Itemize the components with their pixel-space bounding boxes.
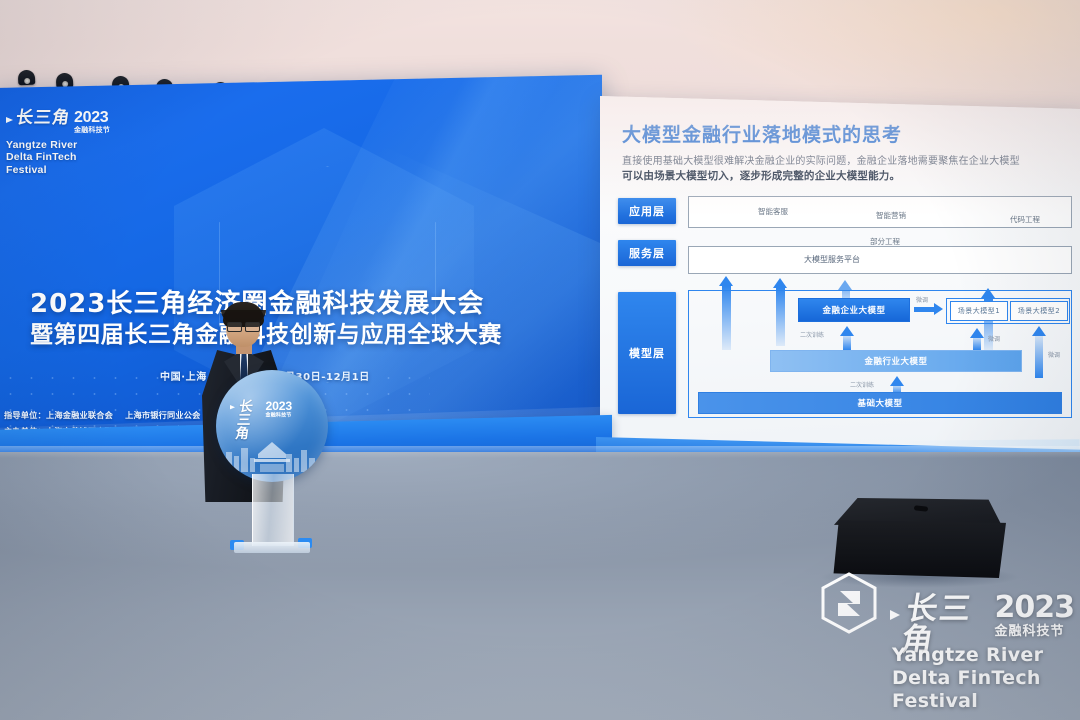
podium-logo-cn: 长三角 — [234, 400, 265, 441]
festival-logo-cn-sub: 金融科技节 — [74, 127, 110, 135]
watermark-en-3: Festival — [892, 690, 1043, 713]
scene-model-2: 场景大模型2 — [1010, 301, 1068, 321]
model-base: 基础大模型 — [698, 392, 1062, 414]
event-title-line2: 暨第四届长三角金融科技创新与应用全球大赛 — [30, 321, 560, 351]
podium-emblem-disc: 长三角 2023 金融科技节 — [216, 370, 328, 482]
arrow-up-stem — [973, 336, 981, 350]
presentation-screen: 大模型金融行业落地模式的思考 直接使用基础大模型很难解决金融企业的实际问题，金融… — [600, 96, 1080, 481]
podium-logo-sub: 金融科技节 — [266, 413, 292, 419]
hexagon-s-logo-icon — [820, 572, 878, 634]
layer-tag-model: 模型层 — [618, 292, 676, 414]
app-item-smart-marketing: 智能营销 — [876, 210, 906, 221]
service-layer-panel — [688, 246, 1072, 274]
arrow-right-stem — [914, 307, 934, 312]
festival-logo-en-1: Yangtze River — [6, 139, 136, 152]
arrow-right-icon — [934, 303, 943, 315]
podium-column — [252, 474, 294, 546]
scene-model-1: 场景大模型1 — [950, 301, 1008, 321]
festival-logo-en-2: Delta FinTech — [6, 151, 136, 164]
conference-stage-photo: 长三角 2023 金融科技节 Yangtze River Delta FinTe… — [0, 0, 1080, 720]
model-industry: 金融行业大模型 — [770, 350, 1022, 372]
layer-tag-application: 应用层 — [618, 198, 676, 224]
arrow-label-finetune: 微调 — [916, 295, 928, 304]
event-title-line1: 2023长三角经济圈金融科技发展大会 — [30, 288, 560, 321]
arrow-label-finetune: 微调 — [988, 334, 1000, 343]
arrow-right-icon — [890, 610, 900, 620]
podium-logo-year: 2023 — [266, 400, 292, 412]
arrow-up-stem — [843, 334, 851, 350]
model-enterprise: 金融企业大模型 — [798, 298, 910, 322]
watermark-en-2: Delta FinTech — [892, 667, 1043, 690]
podium-festival-logo: 长三角 2023 金融科技节 — [230, 400, 292, 441]
glasses-icon — [227, 322, 260, 330]
layer-tag-service: 服务层 — [618, 240, 676, 266]
festival-logo-year: 2023 — [74, 110, 108, 126]
festival-logo-cn: 长三角 — [15, 110, 71, 127]
podium-base — [234, 542, 310, 553]
watermark-en-name: Yangtze River Delta FinTech Festival — [892, 644, 1043, 714]
arrow-right-icon — [6, 117, 13, 123]
festival-logo-en-3: Festival — [6, 164, 136, 177]
app-item-code-engineering: 代码工程 — [1010, 214, 1040, 225]
slide-title: 大模型金融行业落地模式的思考 — [622, 120, 902, 147]
watermark-year: 2023 — [995, 594, 1075, 623]
service-platform-label: 大模型服务平台 — [804, 254, 860, 265]
slide-subtitle-line2: 可以由场景大模型切入，逐步形成完整的企业大模型能力。 — [622, 168, 900, 183]
slide-subtitle-line1: 直接使用基础大模型很难解决金融企业的实际问题，金融企业落地需要聚焦在企业大模型 — [622, 152, 1020, 167]
arrow-right-icon — [230, 405, 235, 409]
architecture-diagram: 应用层 智能客服 智能营销 代码工程 服务层 部分工程 大模型服务平台 — [618, 194, 1070, 444]
arrow-label-retrain: 二次训练 — [800, 330, 824, 339]
arrow-up-icon — [719, 276, 733, 286]
arrow-label-finetune: 微调 — [1048, 350, 1060, 359]
watermark-cn-sub: 金融科技节 — [995, 625, 1075, 639]
organizer-role: 指导单位： — [4, 410, 46, 420]
organizer-name: 上海市银行同业公会 — [125, 410, 201, 420]
arrow-label-retrain: 二次训练 — [850, 380, 874, 389]
watermark-en-1: Yangtze River — [892, 644, 1043, 667]
event-headline: 2023长三角经济圈金融科技发展大会 暨第四届长三角金融科技创新与应用全球大赛 — [30, 288, 560, 351]
arrow-up-icon — [838, 280, 852, 290]
arrow-up-icon — [773, 278, 787, 288]
festival-watermark: 长三角 2023 金融科技节 Yangtze River Delta FinTe… — [812, 570, 1074, 710]
organizer-name: 上海金融业联合会 — [46, 410, 113, 420]
arrow-up-stem — [1035, 334, 1043, 378]
app-item-smart-service: 智能客服 — [758, 206, 788, 217]
festival-logo: 长三角 2023 金融科技节 Yangtze River Delta FinTe… — [6, 110, 136, 177]
podium: 长三角 2023 金融科技节 — [216, 370, 328, 558]
